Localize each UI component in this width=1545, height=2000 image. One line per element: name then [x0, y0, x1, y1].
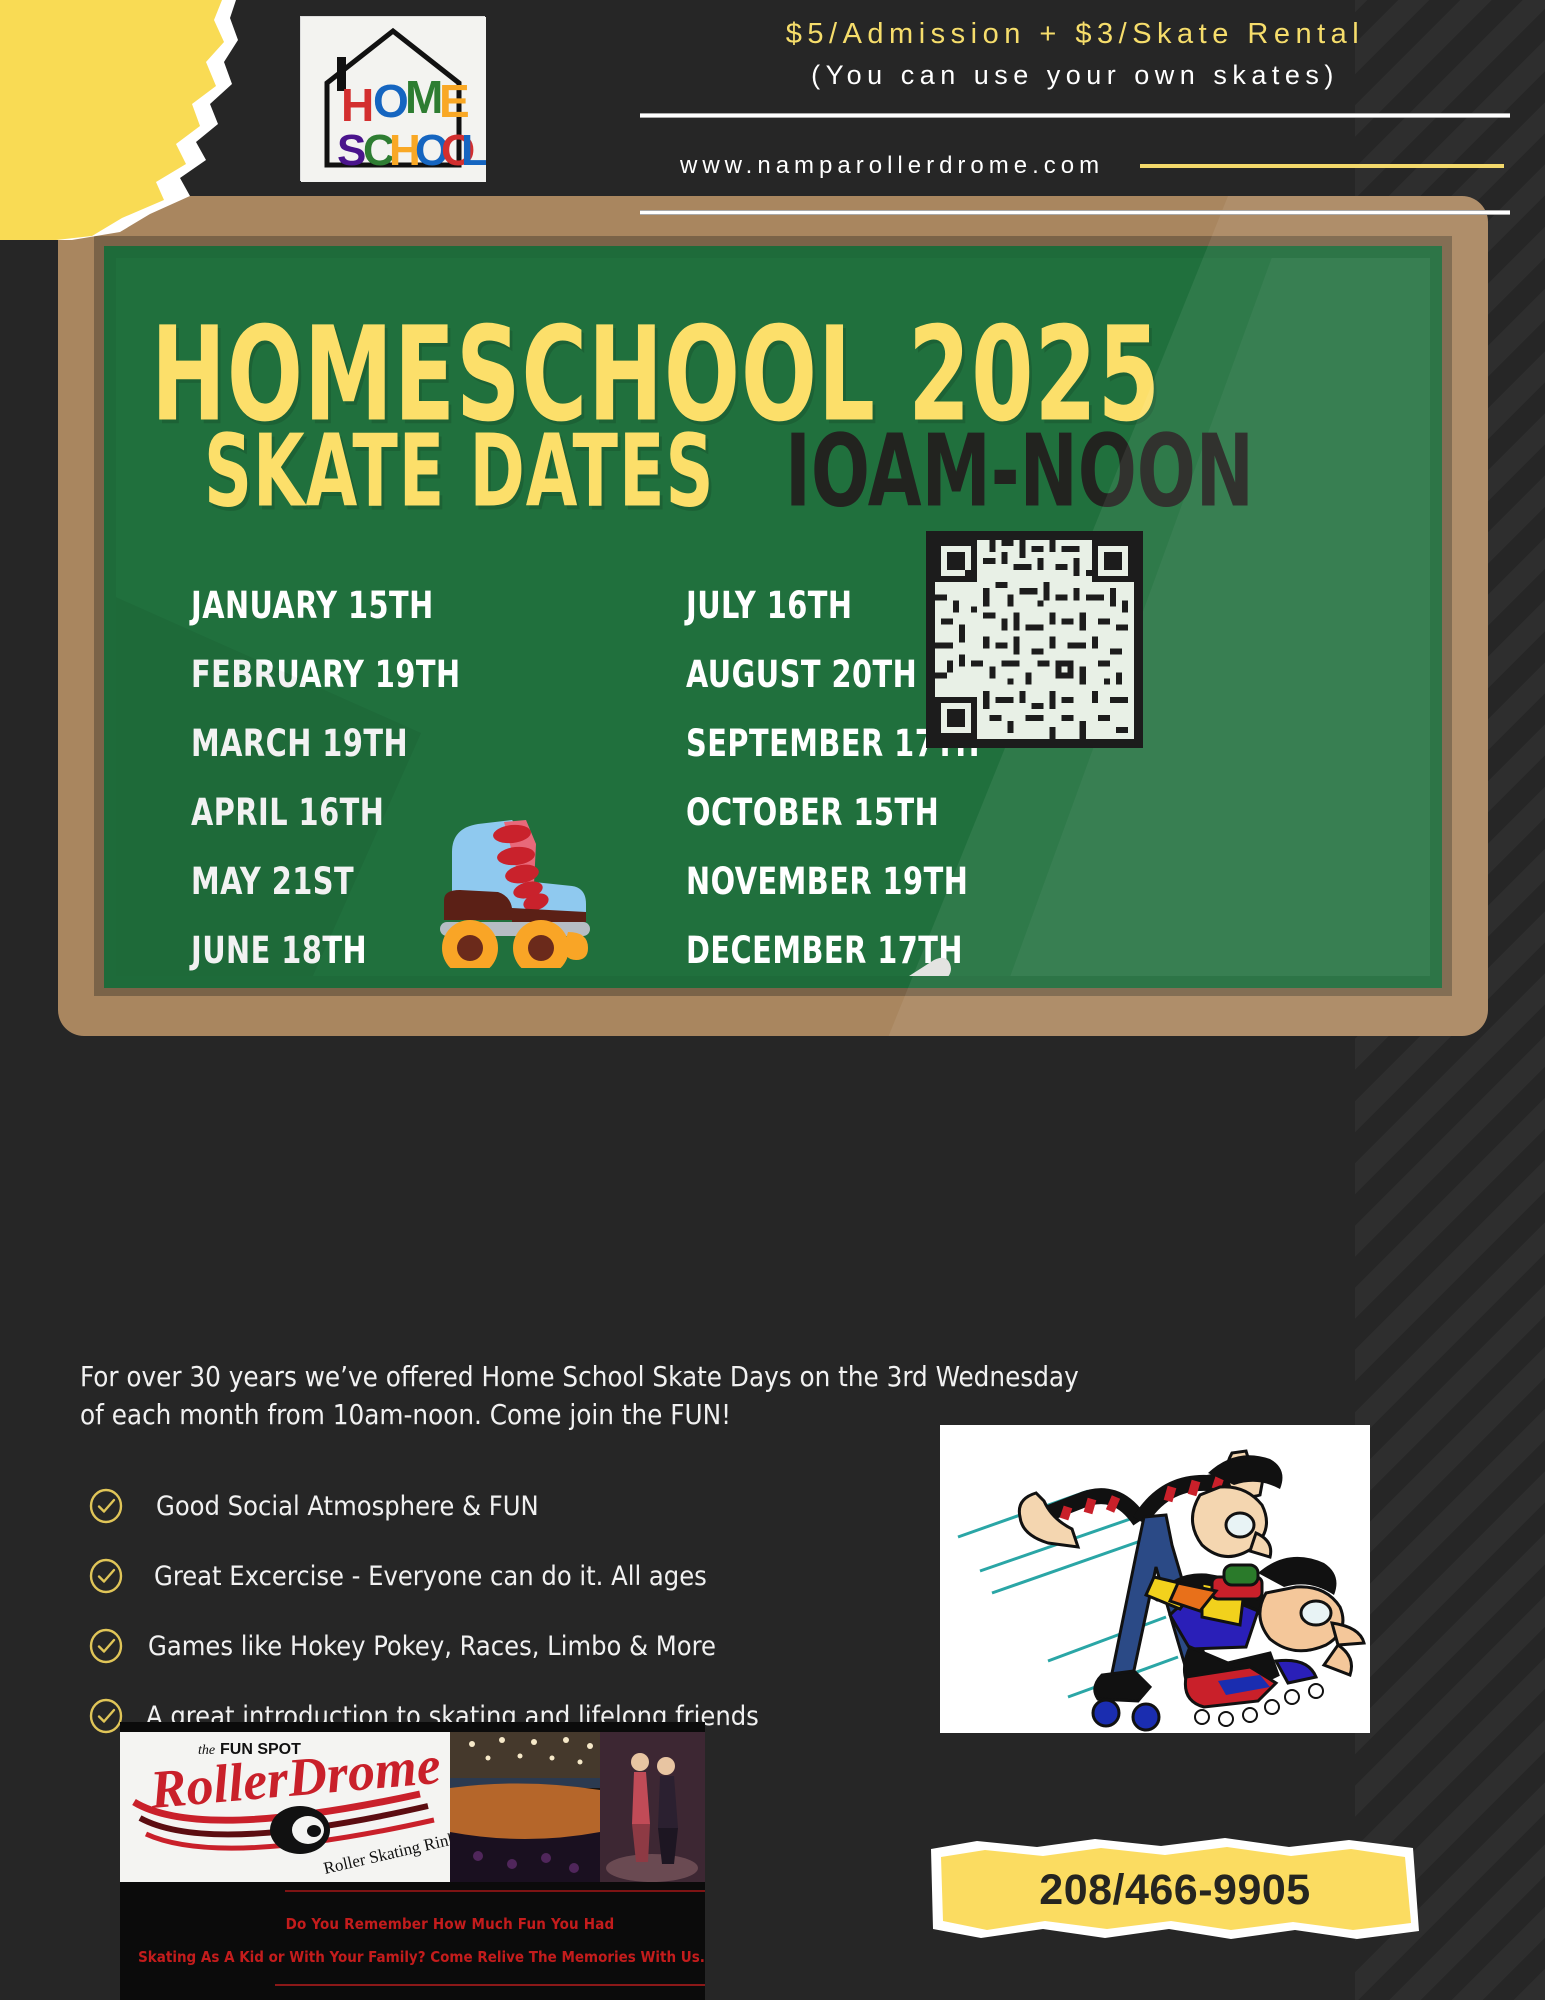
rollerdrome-banner: the FUN SPOT RollerDrome Roller Skating …: [120, 1722, 705, 2000]
website-row: www.namparollerdrome.com: [640, 152, 1510, 180]
homeschool-logo: H O M E S C H O O L: [300, 16, 485, 181]
chalkboard-surface: HOMESCHOOL 2025 SKATE DATES IOAM-NOON JA…: [116, 258, 1430, 976]
svg-text:E: E: [439, 75, 470, 127]
chalkboard-inner-frame: HOMESCHOOL 2025 SKATE DATES IOAM-NOON JA…: [104, 246, 1442, 988]
banner-rule-bottom: [275, 1984, 705, 1986]
board-subtitle: SKATE DATES: [204, 415, 714, 530]
list-item: Games like Hokey Pokey, Races, Limbo & M…: [88, 1620, 1078, 1672]
price-line: $5/Admission + $3/Skate Rental: [640, 18, 1510, 51]
date-item: FEBRUARY 19TH: [191, 649, 461, 726]
skater-cartoon: [940, 1425, 1370, 1733]
check-circle-icon: [88, 1488, 124, 1524]
phone-badge[interactable]: 208/466-9905: [925, 1835, 1425, 1945]
list-item-label: Games like Hokey Pokey, Races, Limbo & M…: [146, 1631, 716, 1662]
check-circle-icon: [88, 1628, 124, 1664]
banner-rule-top: [285, 1890, 705, 1892]
roller-skate-icon: [416, 808, 606, 968]
chalk-eraser-icon: [806, 948, 1076, 976]
banner-line-1: Do You Remember How Much Fun You Had: [120, 1915, 705, 1933]
rink-photo: [450, 1732, 600, 1882]
website-url[interactable]: www.namparollerdrome.com: [640, 152, 1104, 180]
chalkboard-frame: HOMESCHOOL 2025 SKATE DATES IOAM-NOON JA…: [94, 236, 1452, 996]
banner-images: the FUN SPOT RollerDrome Roller Skating …: [120, 1732, 705, 1882]
own-skates-note: (You can use your own skates): [640, 60, 1510, 91]
svg-text:S: S: [337, 126, 366, 175]
header-divider-bottom: [640, 210, 1510, 215]
intro-paragraph: For over 30 years we’ve offered Home Sch…: [80, 1358, 1080, 1434]
svg-text:H: H: [341, 79, 374, 131]
date-item: JANUARY 15TH: [191, 580, 461, 657]
qr-code[interactable]: [926, 531, 1143, 748]
board-subtitle-row: SKATE DATES IOAM-NOON: [204, 440, 1259, 530]
banner-line-2: Skating As A Kid or With Your Family? Co…: [120, 1948, 705, 1966]
check-circle-icon: [88, 1698, 124, 1734]
header: H O M E S C H O O L $5/Admission + $3/Sk…: [0, 0, 1545, 245]
date-item: OCTOBER 15TH: [686, 787, 980, 864]
list-item-label: Good Social Atmosphere & FUN: [146, 1491, 539, 1522]
header-divider-top: [640, 113, 1510, 118]
svg-text:O: O: [373, 75, 409, 127]
board-time: IOAM-NOON: [785, 415, 1254, 530]
date-item: MARCH 19TH: [191, 718, 461, 795]
svg-text:M: M: [405, 71, 443, 123]
phone-number[interactable]: 208/466-9905: [925, 1835, 1425, 1945]
chalkboard: HOMESCHOOL 2025 SKATE DATES IOAM-NOON JA…: [58, 196, 1488, 1036]
date-item: NOVEMBER 19TH: [686, 856, 980, 933]
svg-text:L: L: [461, 126, 486, 175]
rollerdrome-logo: the FUN SPOT RollerDrome Roller Skating …: [120, 1732, 450, 1882]
skating-couple-photo: [600, 1732, 705, 1882]
header-text-block: $5/Admission + $3/Skate Rental (You can …: [640, 18, 1510, 215]
list-item-label: Great Excercise - Everyone can do it. Al…: [146, 1561, 707, 1592]
check-circle-icon: [88, 1558, 124, 1594]
list-item: Good Social Atmosphere & FUN: [88, 1480, 1078, 1532]
list-item: Great Excercise - Everyone can do it. Al…: [88, 1550, 1078, 1602]
gold-rule: [1140, 164, 1504, 168]
benefits-list: Good Social Atmosphere & FUN Great Excer…: [88, 1480, 1078, 1760]
